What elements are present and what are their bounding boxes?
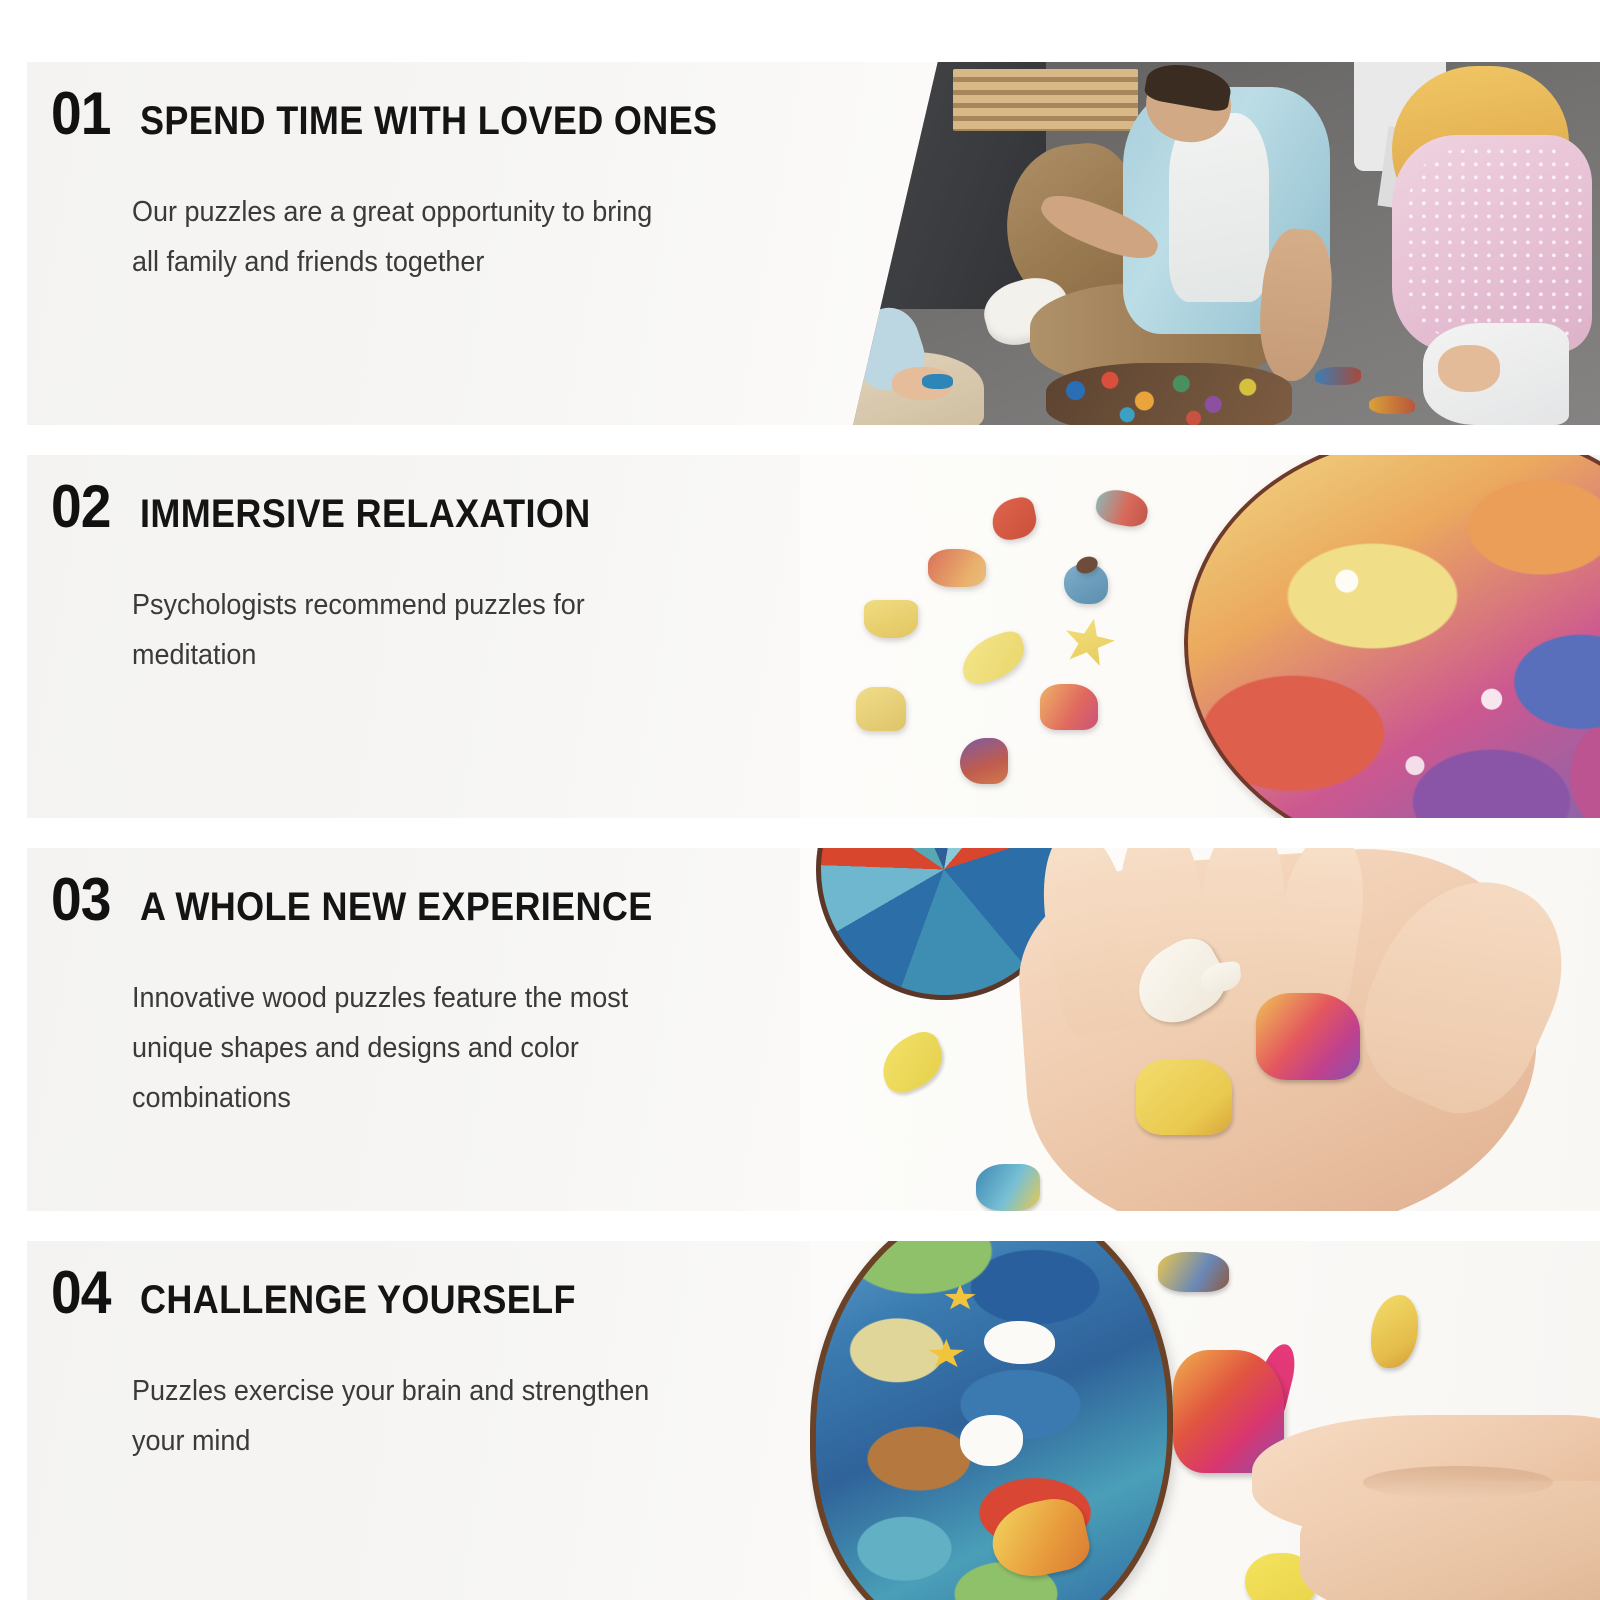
puzzle-piece-goat	[856, 687, 906, 731]
benefit-body-04: Puzzles exercise your brain and strength…	[39, 1367, 690, 1467]
benefit-card-01: 01 SPEND TIME WITH LOVED ONES Our puzzle…	[27, 62, 1600, 425]
benefit-title-01: SPEND TIME WITH LOVED ONES	[140, 101, 717, 141]
puzzle-piece-dog	[928, 549, 986, 587]
benefit-body-line: meditation	[132, 631, 690, 681]
benefit-body-line: Psychologists recommend puzzles for	[132, 581, 690, 631]
benefit-heading-row-02: 02 IMMERSIVE RELAXATION	[39, 477, 847, 537]
benefit-body-line: Innovative wood puzzles feature the most	[132, 974, 690, 1024]
puzzle-piece-top	[1158, 1252, 1229, 1292]
benefit-number-02: 02	[51, 477, 111, 537]
benefit-text-03: 03 A WHOLE NEW EXPERIENCE Innovative woo…	[27, 848, 847, 1211]
benefit-body-line: unique shapes and designs and color	[132, 1024, 690, 1074]
benefit-body-line: combinations	[132, 1074, 690, 1124]
benefit-title-04: CHALLENGE YOURSELF	[140, 1280, 576, 1320]
puzzle-piece-blue-fish	[976, 1164, 1040, 1211]
benefit-photo-04	[810, 1241, 1600, 1600]
puzzle-piece-star	[1060, 614, 1119, 671]
puzzle-piece-cat	[1040, 684, 1098, 730]
benefit-title-02: IMMERSIVE RELAXATION	[140, 494, 591, 534]
benefit-title-03: A WHOLE NEW EXPERIENCE	[140, 887, 653, 927]
puzzle-piece-bird	[988, 494, 1039, 542]
benefit-number-01: 01	[51, 84, 111, 144]
benefit-heading-row-04: 04 CHALLENGE YOURSELF	[39, 1263, 847, 1323]
benefit-body-03: Innovative wood puzzles feature the most…	[39, 974, 690, 1124]
benefit-text-02: 02 IMMERSIVE RELAXATION Psychologists re…	[27, 455, 847, 818]
benefit-photo-02	[800, 455, 1600, 818]
benefit-body-02: Psychologists recommend puzzles for medi…	[39, 581, 690, 681]
puzzle-piece-crown	[864, 600, 918, 638]
benefit-card-03: 03 A WHOLE NEW EXPERIENCE Innovative woo…	[27, 848, 1600, 1211]
puzzle-piece-leaf	[955, 627, 1031, 687]
benefit-photo-03	[800, 848, 1600, 1211]
benefit-body-line: Our puzzles are a great opportunity to b…	[132, 188, 690, 238]
benefit-heading-row-03: 03 A WHOLE NEW EXPERIENCE	[39, 870, 847, 930]
benefit-text-04: 04 CHALLENGE YOURSELF Puzzles exercise y…	[27, 1241, 847, 1600]
assembled-puzzle	[1184, 455, 1600, 818]
benefit-body-01: Our puzzles are a great opportunity to b…	[39, 188, 690, 288]
infographic-page: 01 SPEND TIME WITH LOVED ONES Our puzzle…	[0, 0, 1600, 1600]
puzzle-piece-pink-cat	[1256, 993, 1360, 1080]
benefit-photo-01	[830, 62, 1600, 425]
benefit-card-02: 02 IMMERSIVE RELAXATION Psychologists re…	[27, 455, 1600, 818]
benefit-body-line: your mind	[132, 1417, 690, 1467]
puzzle-piece-yellow-animal	[1136, 1059, 1232, 1135]
puzzle-piece-yellow-leaf	[1371, 1295, 1418, 1368]
benefit-card-04: 04 CHALLENGE YOURSELF Puzzles exercise y…	[27, 1241, 1600, 1600]
benefit-heading-row-01: 01 SPEND TIME WITH LOVED ONES	[39, 84, 847, 144]
benefit-number-03: 03	[51, 870, 111, 930]
benefit-body-line: Puzzles exercise your brain and strength…	[132, 1367, 690, 1417]
benefit-text-01: 01 SPEND TIME WITH LOVED ONES Our puzzle…	[27, 62, 847, 425]
puzzle-piece-seal	[1093, 487, 1150, 530]
puzzle-piece-dino	[960, 738, 1008, 784]
benefit-number-04: 04	[51, 1263, 111, 1323]
benefit-body-line: all family and friends together	[132, 238, 690, 288]
puzzle-piece-yellow-leaf	[873, 1027, 951, 1098]
